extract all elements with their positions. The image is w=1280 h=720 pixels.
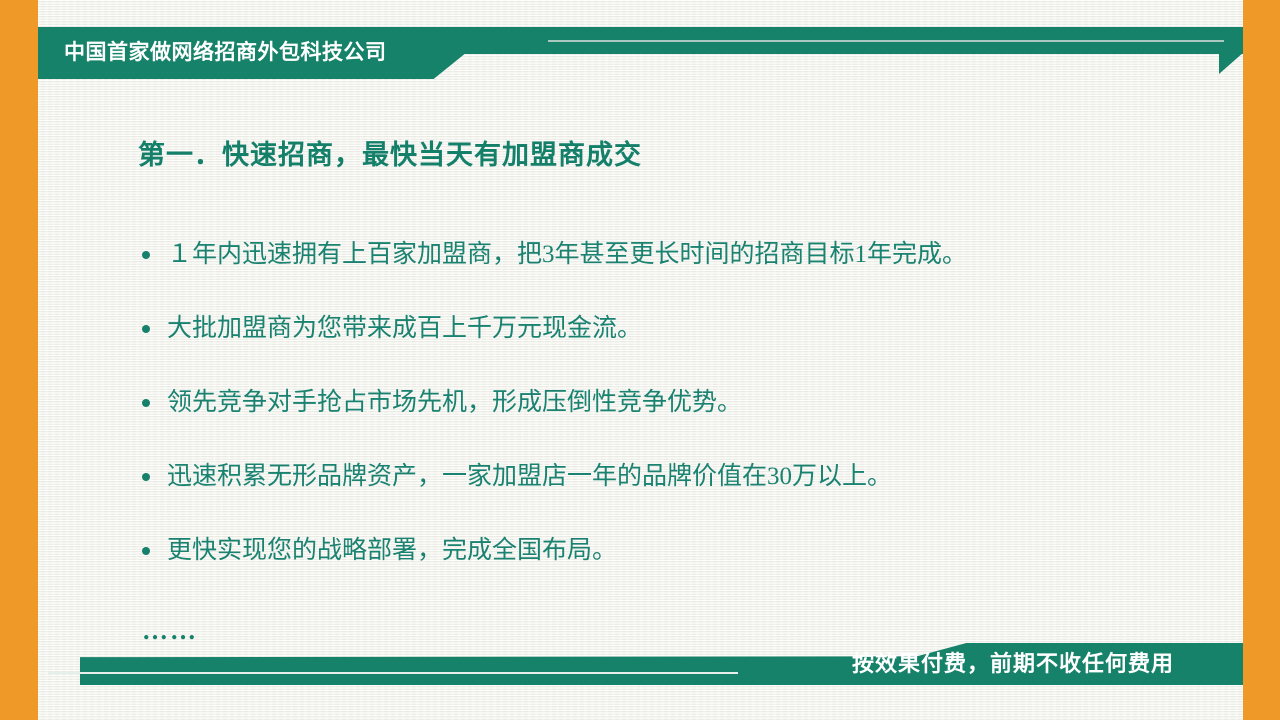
list-item-label: 更快实现您的战略部署，完成全国布局。 (167, 529, 1212, 573)
bullet-dot-icon (142, 251, 150, 259)
footer-tagline: 按效果付费，前期不收任何费用 (852, 645, 1174, 683)
bullet-dot-icon (142, 473, 150, 481)
list-item: １年内迅速拥有上百家加盟商，把3年甚至更长时间的招商目标1年完成。 (142, 233, 1212, 277)
bullet-list: １年内迅速拥有上百家加盟商，把3年甚至更长时间的招商目标1年完成。 大批加盟商为… (142, 233, 1212, 603)
slide-root: 中国首家做网络招商外包科技公司 第一．快速招商，最快当天有加盟商成交 １年内迅速… (0, 0, 1280, 720)
bullet-dot-icon (142, 399, 150, 407)
list-item: 迅速积累无形品牌资产，一家加盟店一年的品牌价值在30万以上。 (142, 455, 1212, 499)
footer-divider-line (48, 672, 738, 674)
list-item-label: 领先竞争对手抢占市场先机，形成压倒性竞争优势。 (167, 381, 1212, 425)
header-divider-line (548, 40, 1224, 42)
header-title: 中国首家做网络招商外包科技公司 (64, 33, 484, 73)
list-item: 更快实现您的战略部署，完成全国布局。 (142, 529, 1212, 573)
continuation-ellipsis: …… (142, 616, 198, 646)
list-item: 大批加盟商为您带来成百上千万元现金流。 (142, 307, 1212, 351)
list-item: 领先竞争对手抢占市场先机，形成压倒性竞争优势。 (142, 381, 1212, 425)
list-item-label: 迅速积累无形品牌资产，一家加盟店一年的品牌价值在30万以上。 (167, 455, 1212, 499)
bullet-dot-icon (142, 547, 150, 555)
bullet-dot-icon (142, 325, 150, 333)
page-title: 第一．快速招商，最快当天有加盟商成交 (138, 133, 642, 172)
list-item-label: 大批加盟商为您带来成百上千万元现金流。 (167, 307, 1212, 351)
list-item-label: １年内迅速拥有上百家加盟商，把3年甚至更长时间的招商目标1年完成。 (167, 233, 1212, 277)
